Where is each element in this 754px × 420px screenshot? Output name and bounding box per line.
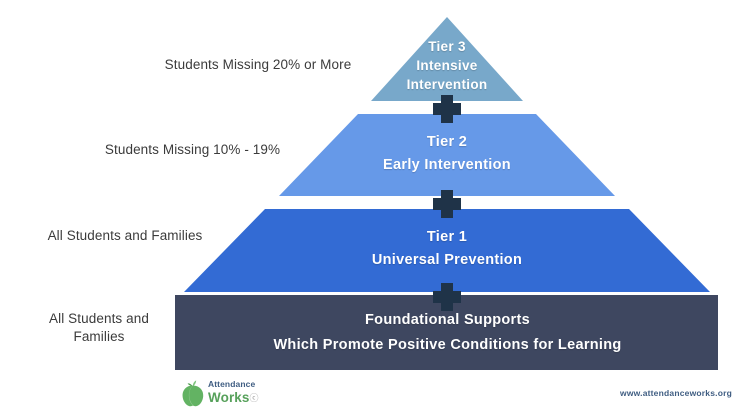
diagram-canvas: Students Missing 20% or More Students Mi… xyxy=(0,0,754,420)
logo-line-works: Worksⓒ xyxy=(208,390,259,406)
apple-leaf-icon xyxy=(180,380,205,407)
attendance-works-logo[interactable]: Attendance Worksⓒ xyxy=(180,379,320,409)
side-label-foundation: All Students and Families xyxy=(14,310,184,346)
side-label-tier2: Students Missing 10% - 19% xyxy=(70,141,315,159)
logo-works-text: Works xyxy=(208,390,250,405)
tier2-band[interactable] xyxy=(279,114,615,196)
site-url-link[interactable]: www.attendanceworks.org xyxy=(620,388,732,398)
side-label-tier3: Students Missing 20% or More xyxy=(118,56,398,74)
logo-wordmark: Attendance Worksⓒ xyxy=(208,379,259,406)
logo-line-attendance: Attendance xyxy=(208,379,259,390)
side-label-tier1: All Students and Families xyxy=(10,227,240,245)
registered-mark-icon: ⓒ xyxy=(250,393,259,403)
tier1-band[interactable] xyxy=(184,209,710,292)
